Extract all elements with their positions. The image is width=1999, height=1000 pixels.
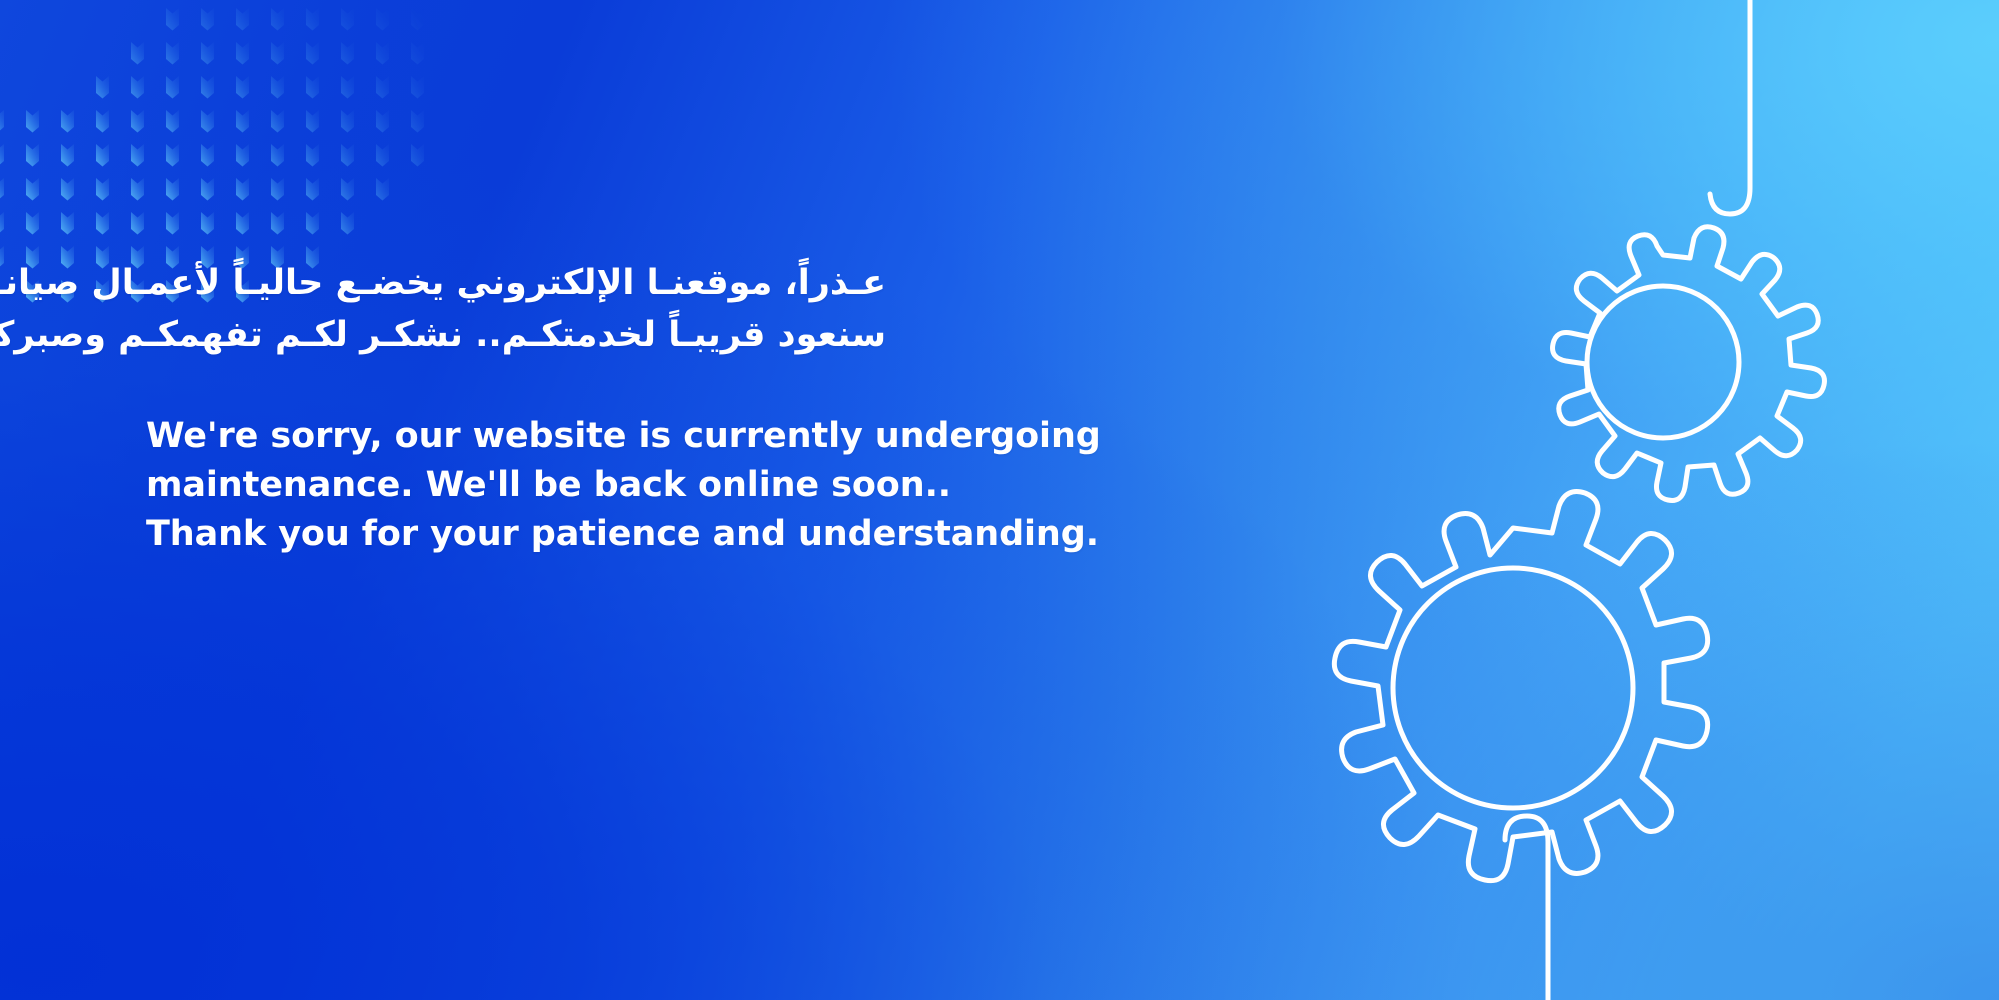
arabic-line-2: سنعود قريبـاً لخدمتكـم.. نشكـر لكـم تفهم… [146,310,886,362]
english-line-1: We're sorry, our website is currently un… [146,412,1146,461]
maintenance-page: عـذراً، موقعنـا الإلكتروني يخضـع حاليـاً… [0,0,1999,1000]
english-line-2: maintenance. We'll be back online soon.. [146,461,1146,510]
arabic-line-1: عـذراً، موقعنـا الإلكتروني يخضـع حاليـاً… [146,258,886,310]
english-message: We're sorry, our website is currently un… [146,412,1146,559]
arabic-message: عـذراً، موقعنـا الإلكتروني يخضـع حاليـاً… [146,258,886,362]
english-line-3: Thank you for your patience and understa… [146,510,1146,559]
message-block: عـذراً، موقعنـا الإلكتروني يخضـع حاليـاً… [146,258,1146,559]
